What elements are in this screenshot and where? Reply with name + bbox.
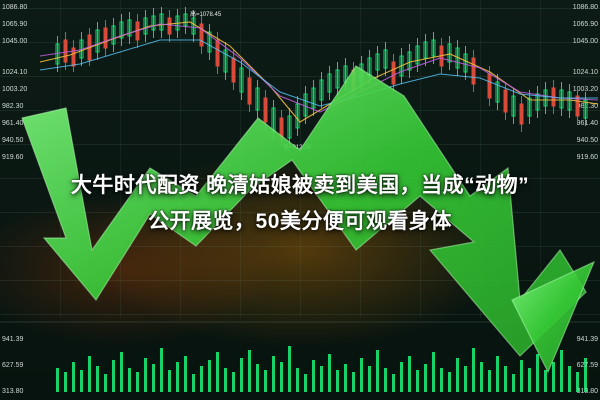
headline-line-1: 大牛时代配资 晚清姑娘被卖到美国，当成“动物” [71, 174, 529, 197]
headline-line-2: 公开展览，50美分便可观看身体 [14, 204, 586, 240]
headline-text: 大牛时代配资 晚清姑娘被卖到美国，当成“动物” 公开展览，50美分便可观看身体 [14, 168, 586, 240]
image-canvas: 1086.80 1065.90 1045.00 1024.10 1003.20 … [0, 0, 600, 400]
